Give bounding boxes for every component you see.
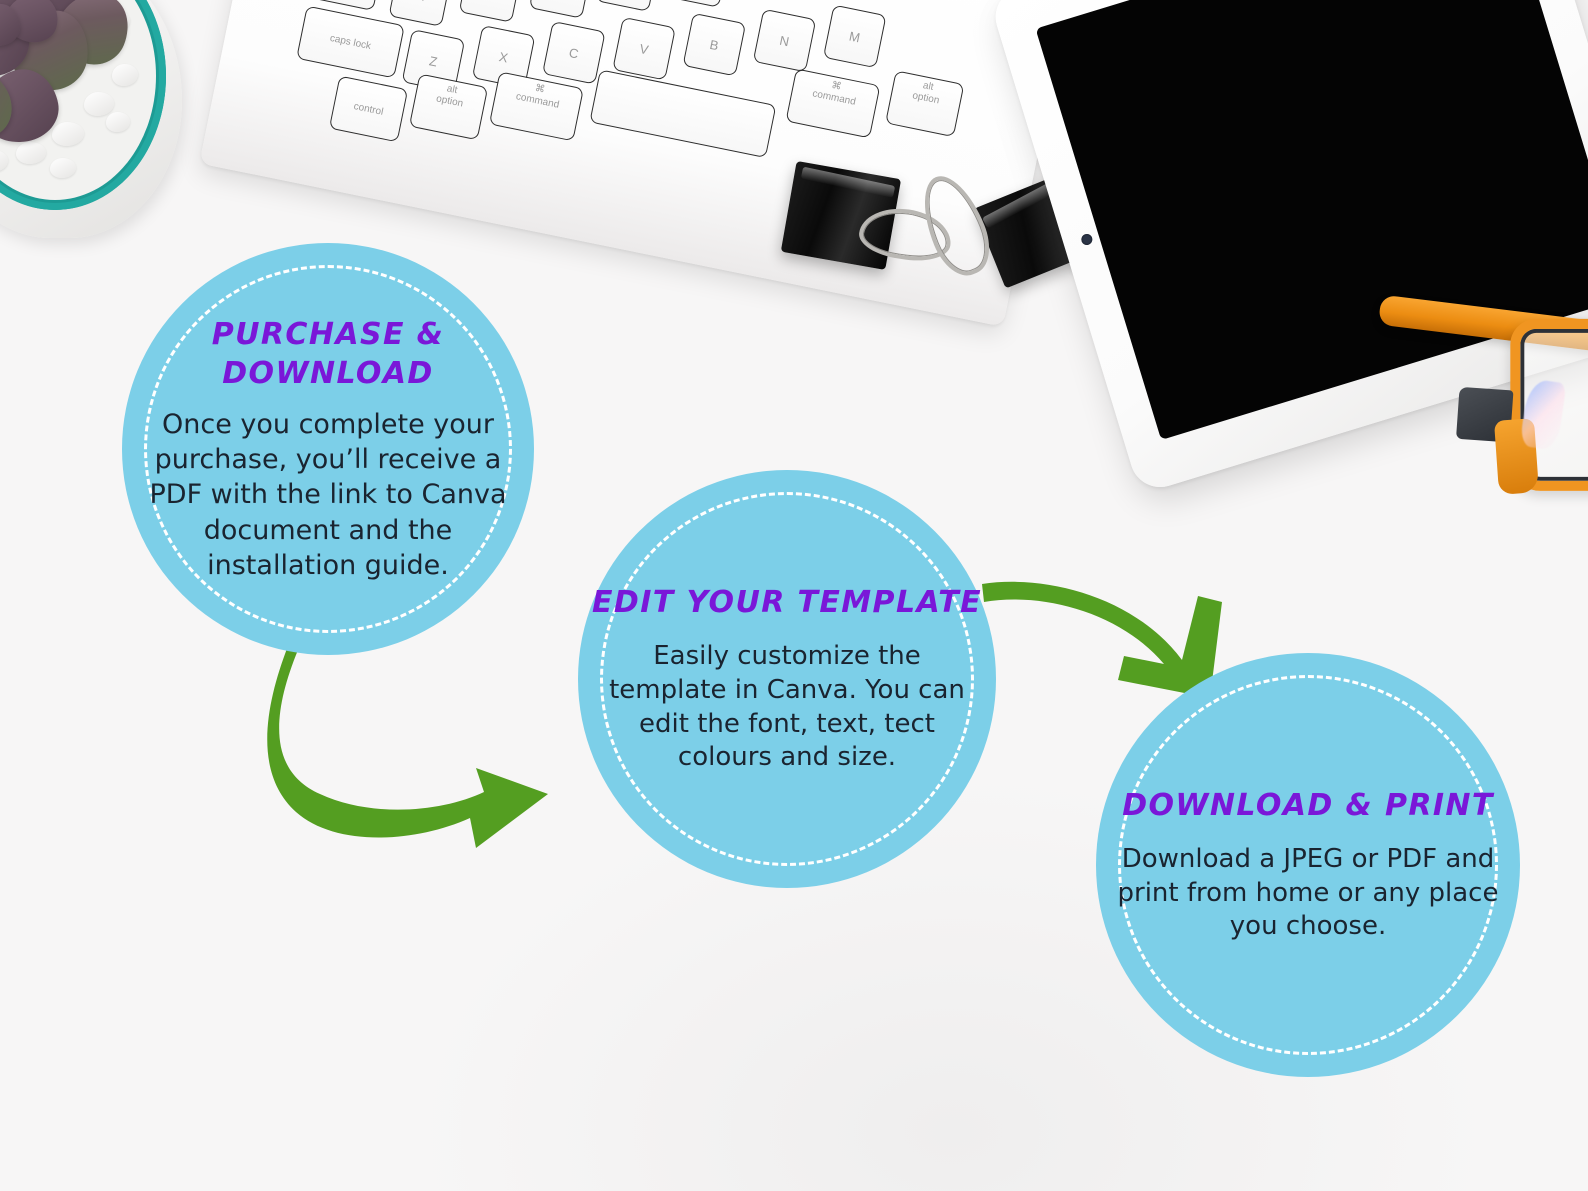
step-title-1: Purchase & Download xyxy=(136,315,520,393)
keyboard-key-label: option xyxy=(911,90,940,107)
keyboard-key: F xyxy=(596,0,660,12)
keyboard-key: G xyxy=(666,0,730,8)
keyboard-key: altoption xyxy=(409,73,488,140)
step-title-3: Download & Print xyxy=(1110,786,1506,825)
keyboard-key: M xyxy=(823,5,887,69)
keyboard-key: control xyxy=(329,76,408,143)
step-content-2: Edit Your Template Easily customize the … xyxy=(578,583,996,775)
keyboard-key: A xyxy=(388,0,452,27)
step-content-3: Download & Print Download a JPEG or PDF … xyxy=(1096,786,1520,944)
keyboard-key-label: N xyxy=(778,32,790,49)
keyboard-key-label: X xyxy=(498,49,509,65)
keyboard-key-label: C xyxy=(568,44,580,61)
keyboard-key-label: M xyxy=(848,28,862,45)
keyboard-key-label: caps lock xyxy=(329,32,372,51)
step-body-1: Once you complete your purchase, you’ll … xyxy=(136,407,520,582)
keyboard-key-label: control xyxy=(353,101,385,118)
step-circle-edit-template[interactable]: Edit Your Template Easily customize the … xyxy=(578,470,996,888)
succulent-plant xyxy=(0,0,186,252)
keyboard-key: C xyxy=(542,21,606,85)
step-body-3: Download a JPEG or PDF and print from ho… xyxy=(1110,843,1506,944)
keyboard-key-label: V xyxy=(638,40,649,56)
keyboard-key xyxy=(589,69,776,158)
step-circle-download-print[interactable]: Download & Print Download a JPEG or PDF … xyxy=(1096,653,1520,1077)
keyboard-key: S xyxy=(459,0,523,23)
tablet-camera-icon xyxy=(1080,233,1094,247)
keyboard-key: altoption xyxy=(885,70,964,137)
infographic-canvas: esc~!1@2QWERFGASDZXCVBNMtabcaps lockcont… xyxy=(0,0,1588,1191)
keyboard-key: ⌘command xyxy=(489,71,584,141)
keyboard-key: D xyxy=(529,0,593,19)
keyboard-key: ⌘command xyxy=(785,68,880,138)
keyboard-key: B xyxy=(682,13,746,77)
step-body-2: Easily customize the template in Canva. … xyxy=(592,640,982,775)
arrow-step1-to-step2-icon xyxy=(262,622,572,852)
keyboard-key-label: A xyxy=(415,0,426,3)
keyboard-key: V xyxy=(612,17,676,81)
step-circle-purchase-download[interactable]: Purchase & Download Once you complete yo… xyxy=(122,243,534,655)
keyboard-key: caps lock xyxy=(296,6,405,79)
keyboard-key: N xyxy=(753,9,817,73)
keyboard-key-label: Z xyxy=(428,53,439,69)
keyboard-key-label: B xyxy=(709,36,720,52)
keyboard-key: tab xyxy=(289,0,384,11)
keyboard-key-label: option xyxy=(435,93,464,110)
step-content-1: Purchase & Download Once you complete yo… xyxy=(122,315,534,582)
step-title-2: Edit Your Template xyxy=(592,583,982,622)
